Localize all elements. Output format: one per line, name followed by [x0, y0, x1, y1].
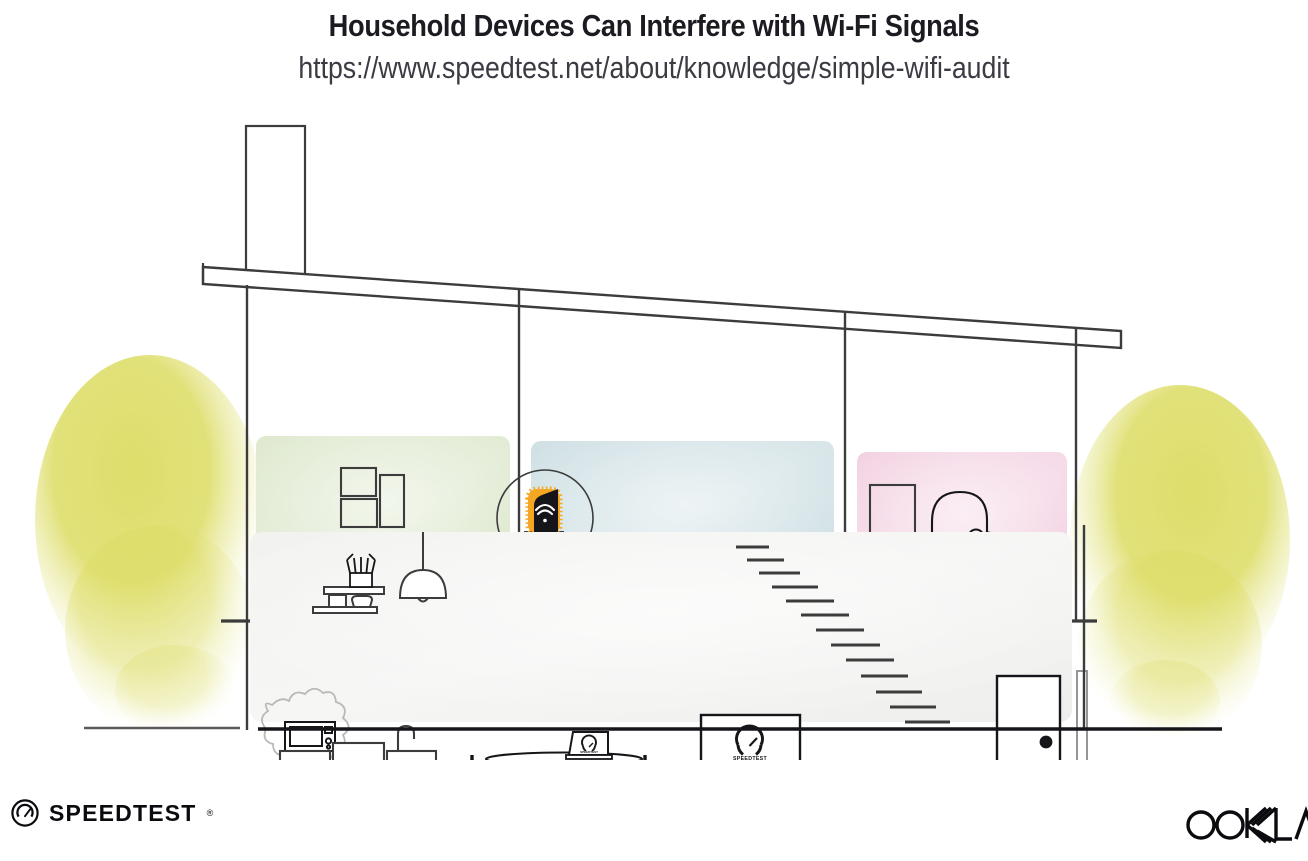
television: SPEEDTEST	[701, 715, 800, 760]
roof	[203, 263, 1121, 348]
laptop-brand-label: SPEEDTEST	[580, 750, 598, 754]
room-living-kitchen	[250, 532, 1072, 722]
house-cutaway-svg: SPEEDTEST	[0, 100, 1308, 760]
wifi-router	[528, 489, 560, 532]
ookla-wordmark-icon: ™	[1184, 798, 1308, 844]
page-title: Household Devices Can Interfere with Wi-…	[78, 8, 1229, 44]
ookla-logo[interactable]: ™	[1184, 798, 1308, 849]
page-root: Household Devices Can Interfere with Wi-…	[0, 0, 1308, 861]
door-sidelight	[1077, 671, 1087, 760]
chimney	[246, 126, 305, 279]
footer: SPEEDTEST ® ™	[0, 780, 1308, 861]
tv-brand-label: SPEEDTEST	[733, 756, 767, 760]
laptop: SPEEDTEST	[566, 732, 612, 759]
dining-table	[486, 753, 642, 761]
speedtest-gauge-icon	[10, 798, 40, 828]
speedtest-logo[interactable]: SPEEDTEST ®	[10, 798, 213, 828]
foliage-left	[35, 355, 265, 735]
speedtest-wordmark: SPEEDTEST	[49, 800, 197, 827]
house-illustration: SPEEDTEST	[0, 100, 1308, 760]
source-url: https://www.speedtest.net/about/knowledg…	[92, 50, 1217, 86]
kitchen-shelf-upper	[324, 587, 384, 594]
entry-door	[997, 676, 1060, 760]
microwave	[285, 722, 335, 751]
header: Household Devices Can Interfere with Wi-…	[0, 0, 1308, 86]
speedtest-trademark-symbol: ®	[207, 808, 214, 818]
foliage-right	[1070, 385, 1290, 740]
